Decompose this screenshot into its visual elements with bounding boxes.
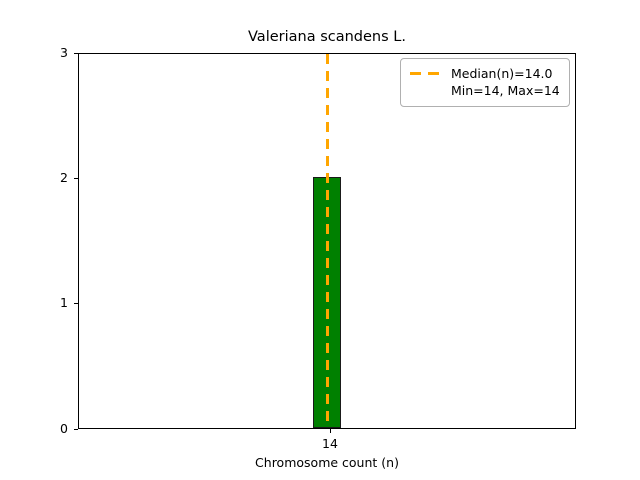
legend-label-minmax: Min=14, Max=14 [451, 82, 560, 99]
dashed-line-icon [409, 65, 443, 82]
y-tick-label-1: 1 [60, 297, 68, 310]
y-tick-label-3: 3 [60, 47, 68, 60]
x-tick-label-14: 14 [322, 437, 338, 450]
legend: Median(n)=14.0 Min=14, Max=14 [400, 58, 570, 107]
x-tick-mark-14 [330, 429, 331, 433]
y-tick-label-0: 0 [60, 423, 68, 436]
legend-label-median: Median(n)=14.0 [451, 65, 552, 82]
matplotlib-figure: Valeriana scandens L. 0 1 2 3 14 Chromos… [0, 0, 640, 480]
chart-title: Valeriana scandens L. [78, 28, 576, 46]
y-tick-label-2: 2 [60, 172, 68, 185]
median-line [326, 54, 329, 428]
plot-area [78, 53, 576, 429]
legend-entry-minmax: Min=14, Max=14 [409, 82, 561, 99]
legend-entry-median: Median(n)=14.0 [409, 65, 561, 82]
x-axis-label: Chromosome count (n) [78, 455, 576, 471]
legend-blank-swatch [409, 82, 443, 99]
